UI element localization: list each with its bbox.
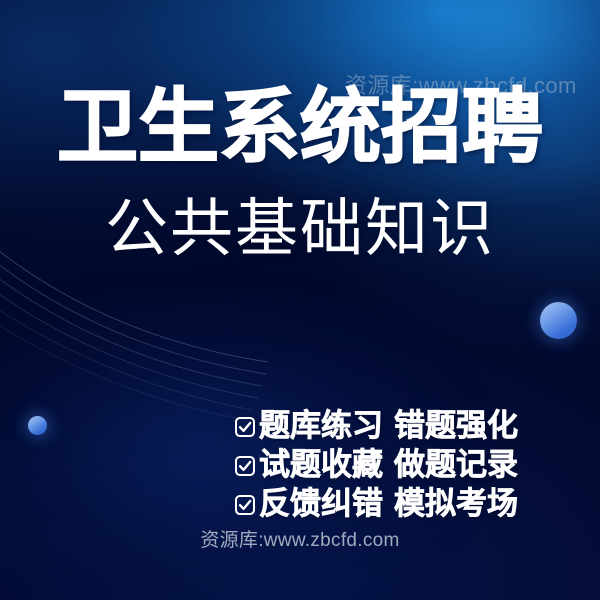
page-subtitle: 公共基础知识 — [0, 192, 600, 266]
poster-canvas: 资源库:www.zbcfd.com 卫生系统招聘 公共基础知识 题库练习 错题强… — [0, 0, 600, 600]
page-title: 卫生系统招聘 — [0, 82, 600, 174]
watermark-bottom: 资源库:www.zbcfd.com — [0, 525, 600, 552]
feature-list: 题库练习 错题强化 试题收藏 做题记录 反馈纠错 — [234, 408, 518, 522]
decorative-dot-right — [540, 302, 577, 339]
feature-label-left: 题库练习 — [259, 408, 383, 444]
feature-label-left: 反馈纠错 — [259, 486, 383, 522]
feature-row: 反馈纠错 模拟考场 — [234, 486, 518, 522]
decorative-dot-left — [28, 416, 47, 435]
feature-label-right: 做题记录 — [394, 447, 518, 483]
feature-label-right: 错题强化 — [394, 408, 518, 444]
feature-row: 试题收藏 做题记录 — [234, 447, 518, 483]
feature-label-right: 模拟考场 — [394, 486, 518, 522]
feature-row: 题库练习 错题强化 — [234, 408, 518, 444]
feature-label-left: 试题收藏 — [259, 447, 383, 483]
checkbox-checked-icon — [234, 494, 256, 516]
checkbox-checked-icon — [234, 455, 256, 477]
checkbox-checked-icon — [234, 416, 256, 438]
